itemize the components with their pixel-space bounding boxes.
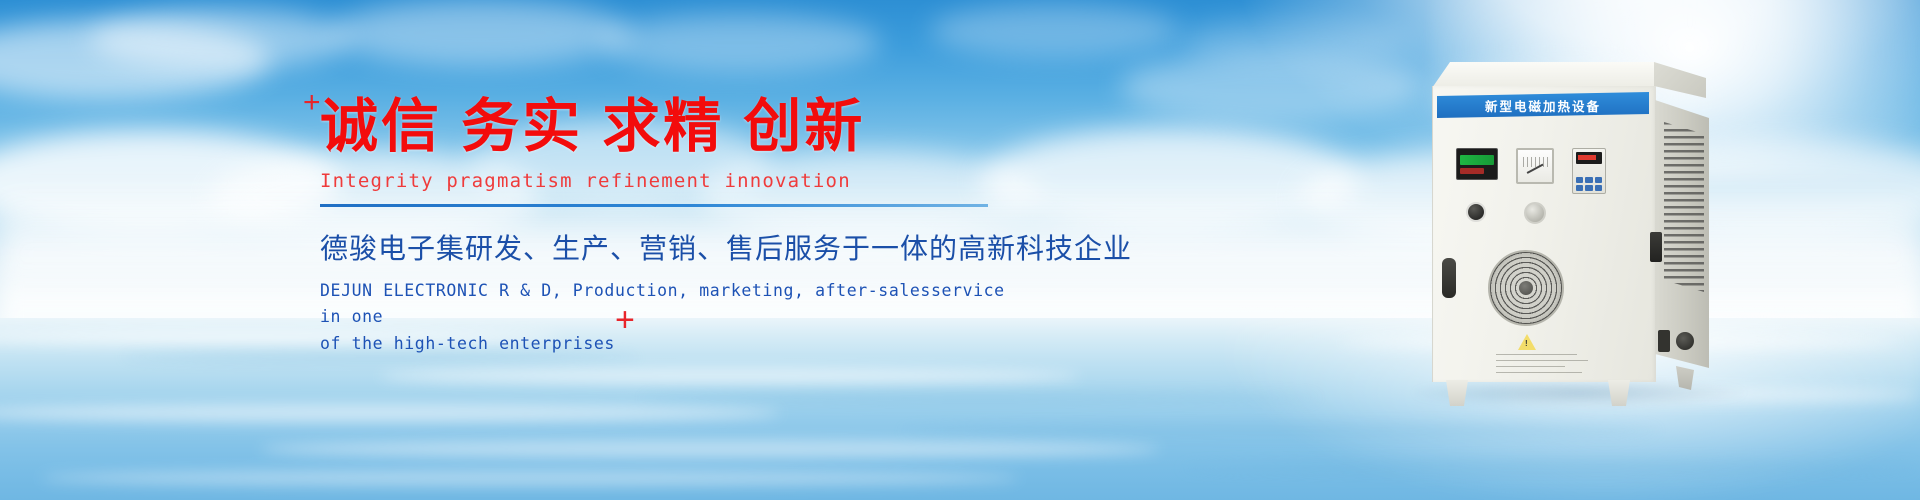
plus-decor-icon: + <box>303 88 321 118</box>
ventilation-slots <box>1664 122 1704 292</box>
description-english-line-2: of the high-tech enterprises <box>320 331 1020 358</box>
product-image-heating-equipment: 新型电磁加热设备 <box>1432 62 1732 402</box>
description-chinese: 德骏电子集研发、生产、营销、售后服务于一体的高新科技企业 <box>320 227 1020 267</box>
promo-banner: + + 诚信 务实 求精 创新 Integrity pragmatism ref… <box>0 0 1920 500</box>
spec-text-line <box>1496 360 1588 361</box>
cloud-decor <box>330 0 630 66</box>
headline-english: Integrity pragmatism refinement innovati… <box>320 170 1020 192</box>
description-english-line-1: DEJUN ELECTRONIC R & D, Production, mark… <box>320 278 1020 331</box>
spec-text-line <box>1496 372 1582 373</box>
product-label-banner: 新型电磁加热设备 <box>1437 92 1649 118</box>
cooling-fan-grille <box>1488 250 1564 326</box>
description-english: DEJUN ELECTRONIC R & D, Production, mark… <box>320 278 1020 358</box>
analog-gauge-meter <box>1516 148 1554 184</box>
divider-line <box>320 204 988 207</box>
keypad-key <box>1585 185 1592 191</box>
cloud-decor <box>600 14 880 72</box>
cabinet-front-panel <box>1432 86 1656 382</box>
cloud-decor <box>930 4 1180 58</box>
banner-text-block: 诚信 务实 求精 创新 Integrity pragmatism refinem… <box>320 96 1020 358</box>
wave-decor <box>260 440 1160 458</box>
keypad-key <box>1576 185 1583 191</box>
specification-text-block <box>1496 354 1592 378</box>
keypad-screen <box>1576 152 1602 164</box>
digital-readout-green <box>1460 155 1494 165</box>
keypad-keys <box>1576 177 1602 191</box>
wave-decor <box>640 392 1320 404</box>
product-label-text: 新型电磁加热设备 <box>1485 96 1601 115</box>
cabinet-door-handle <box>1442 258 1456 298</box>
digital-display-meter <box>1456 148 1498 180</box>
digital-readout-red <box>1460 168 1484 174</box>
wave-decor <box>40 470 1020 486</box>
keypad-key <box>1595 177 1602 183</box>
wave-decor <box>1180 460 1920 476</box>
headline-chinese: 诚信 务实 求精 创新 <box>320 96 1020 159</box>
cloud-decor <box>90 8 350 70</box>
cloud-decor <box>1120 52 1420 122</box>
keypad-key <box>1595 185 1602 191</box>
keypad-key <box>1576 177 1583 183</box>
spec-text-line <box>1496 354 1577 355</box>
cable-port-rectangular <box>1658 330 1670 352</box>
wave-decor <box>900 424 1660 438</box>
cable-port-round <box>1676 332 1694 350</box>
control-keypad <box>1572 148 1606 194</box>
spec-text-line <box>1496 366 1565 367</box>
warning-triangle-icon <box>1518 334 1536 350</box>
cabinet-side-latch <box>1650 232 1662 262</box>
cabinet-top-side-face <box>1654 62 1712 98</box>
keypad-key <box>1585 177 1592 183</box>
control-knob-light <box>1524 202 1546 224</box>
wave-decor <box>380 368 1080 384</box>
gauge-scale-marks <box>1523 157 1551 167</box>
control-knob-dark <box>1466 202 1486 222</box>
